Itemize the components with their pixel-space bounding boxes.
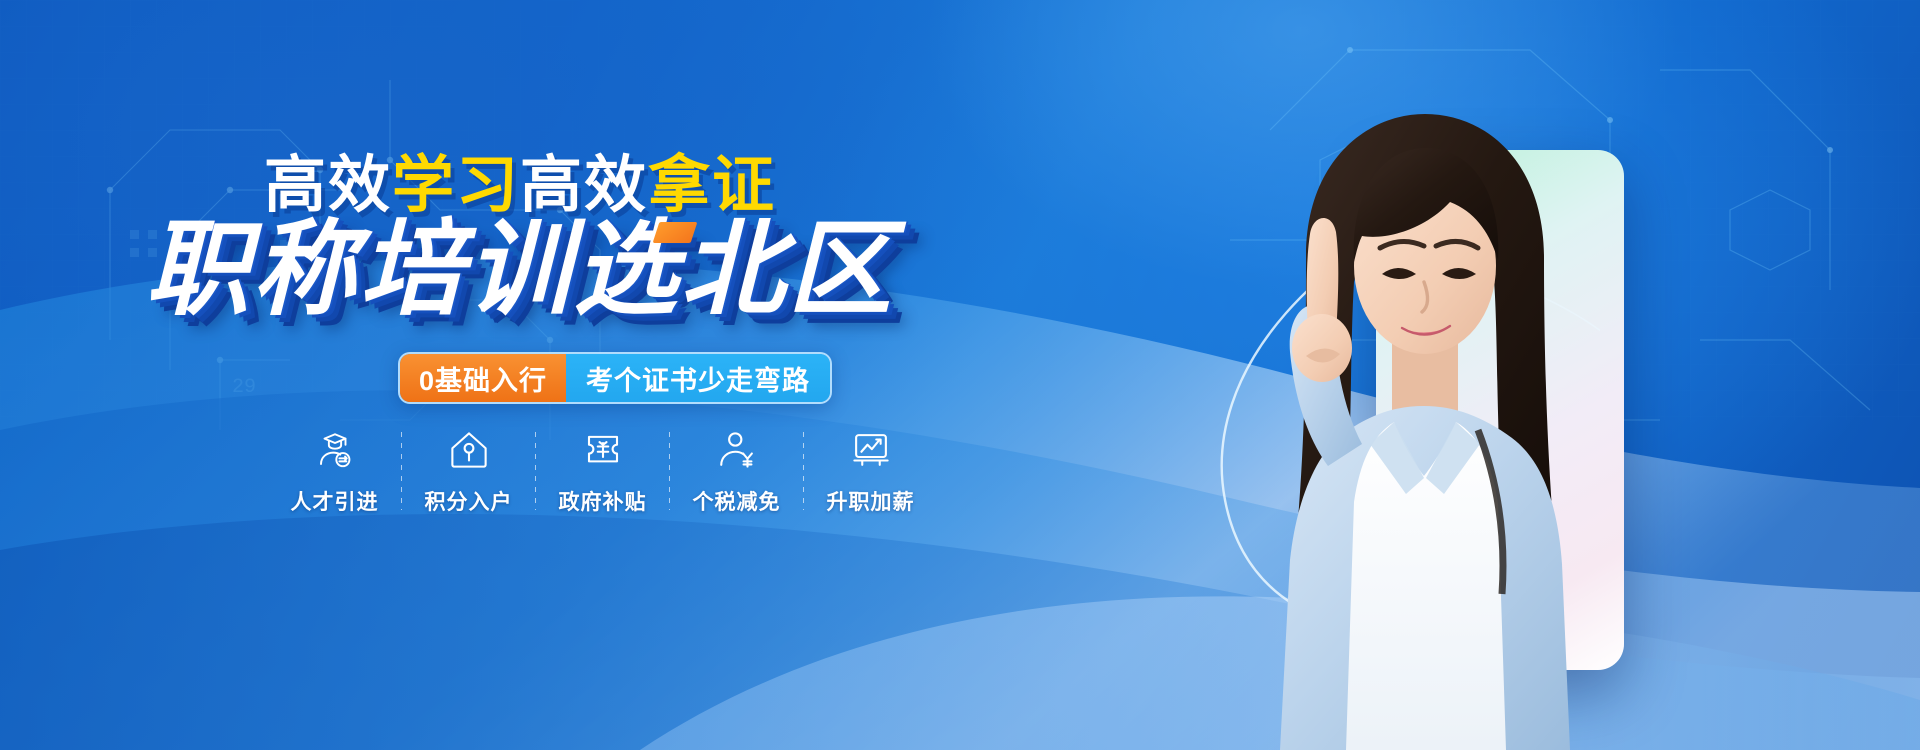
banner-content: 高效学习高效拿证 职称培训选北区 0基础入行 考个证书少走弯路	[0, 0, 1100, 750]
hero-imagery	[1100, 0, 1920, 750]
home-pin-icon	[447, 428, 491, 472]
feature-item-tax[interactable]: 个税减免	[670, 428, 803, 516]
person-photo	[1210, 84, 1640, 750]
feature-row: 人才引进 积分入户	[268, 428, 937, 516]
headline-top-seg-0: 高效	[264, 151, 392, 220]
feature-label-subsidy: 政府补贴	[559, 486, 647, 516]
feature-item-talent[interactable]: 人才引进	[268, 428, 401, 516]
headline-top-seg-1: 学习	[392, 151, 520, 220]
headline-top-seg-2: 高效	[520, 151, 648, 220]
orange-accent-mark	[653, 222, 698, 243]
promo-banner: 29	[0, 0, 1920, 750]
feature-item-promotion[interactable]: 升职加薪	[804, 428, 937, 516]
swoosh-line	[1170, 170, 1600, 640]
square-dots-pattern	[1440, 250, 1770, 670]
cta-left-label[interactable]: 0基础入行	[400, 354, 566, 402]
feature-label-talent: 人才引进	[291, 486, 379, 516]
person-yuan-icon	[715, 428, 759, 472]
cta-right-label[interactable]: 考个证书少走弯路	[566, 354, 830, 402]
headline-top-seg-3: 拿证	[648, 151, 776, 220]
headline-subtitle: 高效学习高效拿证	[0, 155, 1040, 217]
voucher-ticket-icon	[581, 428, 625, 472]
feature-label-promotion: 升职加薪	[827, 486, 915, 516]
circuit-pattern-right	[1230, 10, 1920, 570]
gradient-card	[1376, 150, 1624, 670]
feature-label-tax: 个税减免	[693, 486, 781, 516]
feature-label-hukou: 积分入户	[425, 486, 513, 516]
feature-item-hukou[interactable]: 积分入户	[402, 428, 535, 516]
cta-pill[interactable]: 0基础入行 考个证书少走弯路	[398, 352, 832, 404]
graduate-person-icon	[313, 428, 357, 472]
headline-main: 职称培训选北区	[0, 218, 1040, 322]
feature-item-subsidy[interactable]: 政府补贴	[536, 428, 669, 516]
growth-chart-icon	[849, 428, 893, 472]
